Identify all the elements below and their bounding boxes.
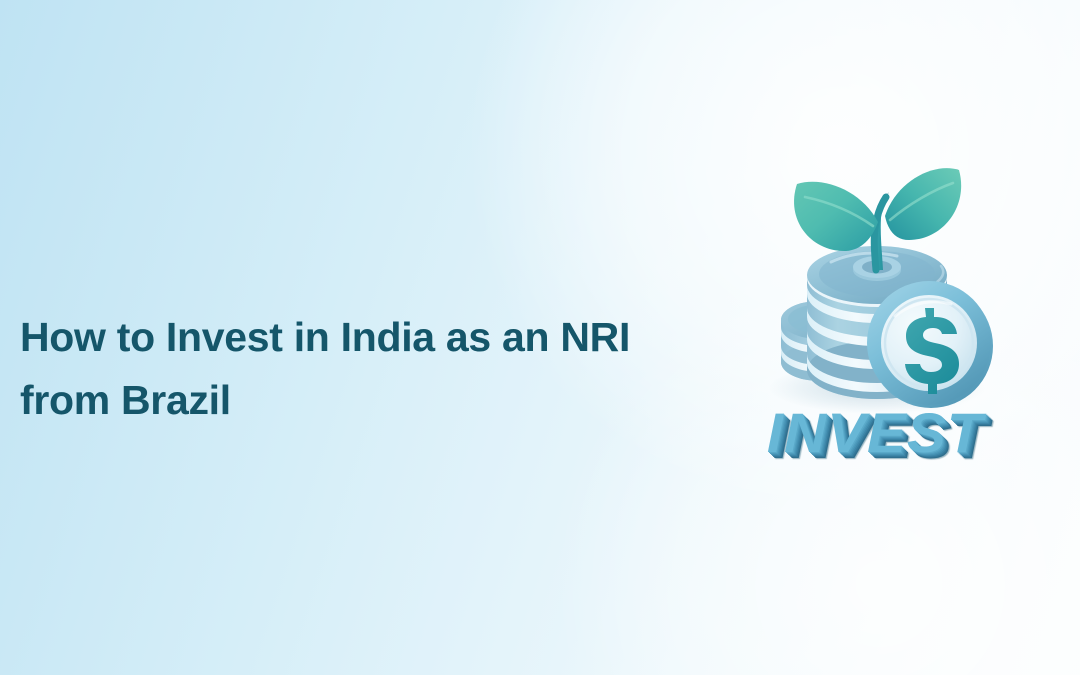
page-title-line-1: How to Invest in India as an NRI: [20, 306, 720, 369]
left-leaf: [794, 182, 878, 251]
hero-banner: How to Invest in India as an NRI from Br…: [0, 0, 1080, 675]
page-title: How to Invest in India as an NRI from Br…: [20, 306, 720, 432]
right-leaf: [885, 168, 961, 240]
page-title-line-2: from Brazil: [20, 369, 720, 432]
plant-sprout: [794, 168, 961, 270]
invest-wordmark: INVEST: [752, 404, 998, 462]
invest-wordmark-text: INVEST: [767, 404, 984, 462]
